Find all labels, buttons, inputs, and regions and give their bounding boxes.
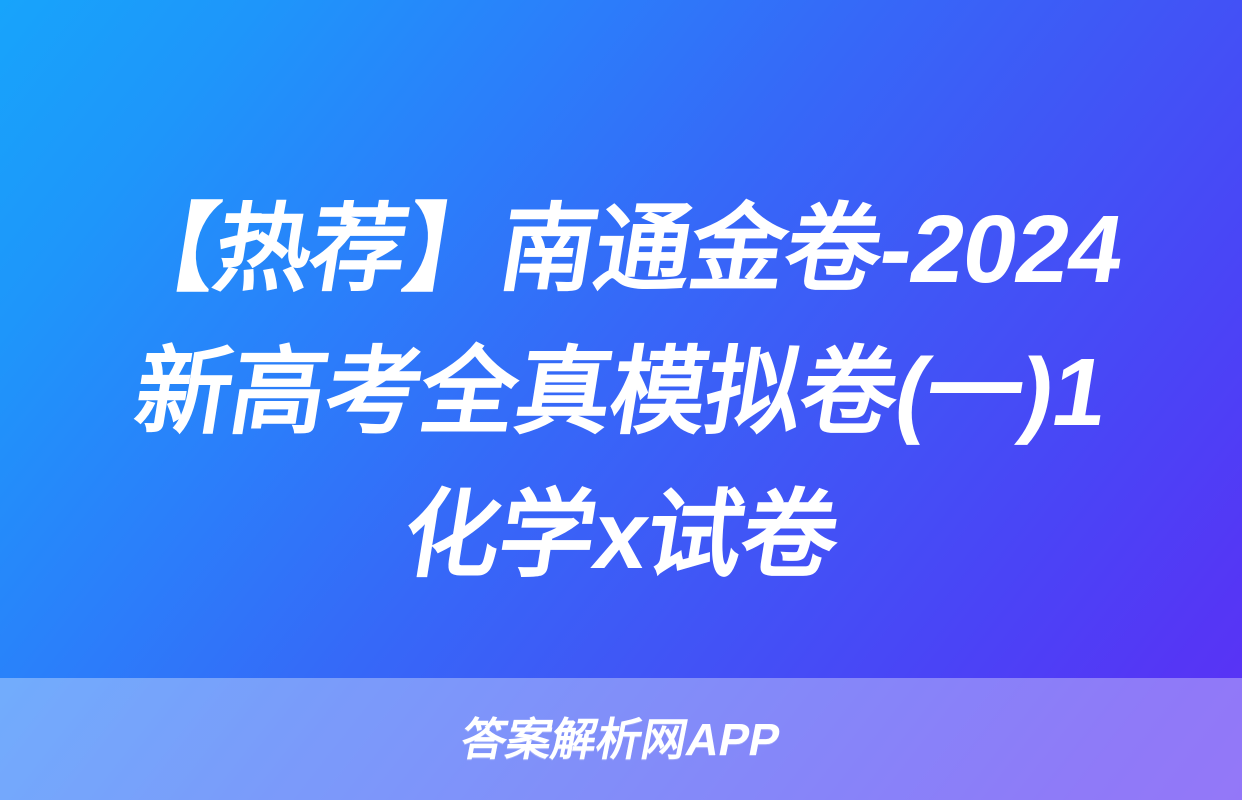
cover-title-line-3: 化学x试卷 (47, 464, 1196, 607)
watermark-band: 答案解析网APP (0, 678, 1242, 800)
cover-title-block: 【热荐】南通金卷-2024 新高考全真模拟卷(一)1 化学x试卷 (0, 178, 1242, 638)
cover-title-line-1: 【热荐】南通金卷-2024 (47, 178, 1196, 321)
cover-title-line-2: 新高考全真模拟卷(一)1 (47, 321, 1196, 464)
cover-card: 【热荐】南通金卷-2024 新高考全真模拟卷(一)1 化学x试卷 答案解析网AP… (0, 0, 1242, 800)
watermark-label: 答案解析网APP (458, 717, 784, 762)
